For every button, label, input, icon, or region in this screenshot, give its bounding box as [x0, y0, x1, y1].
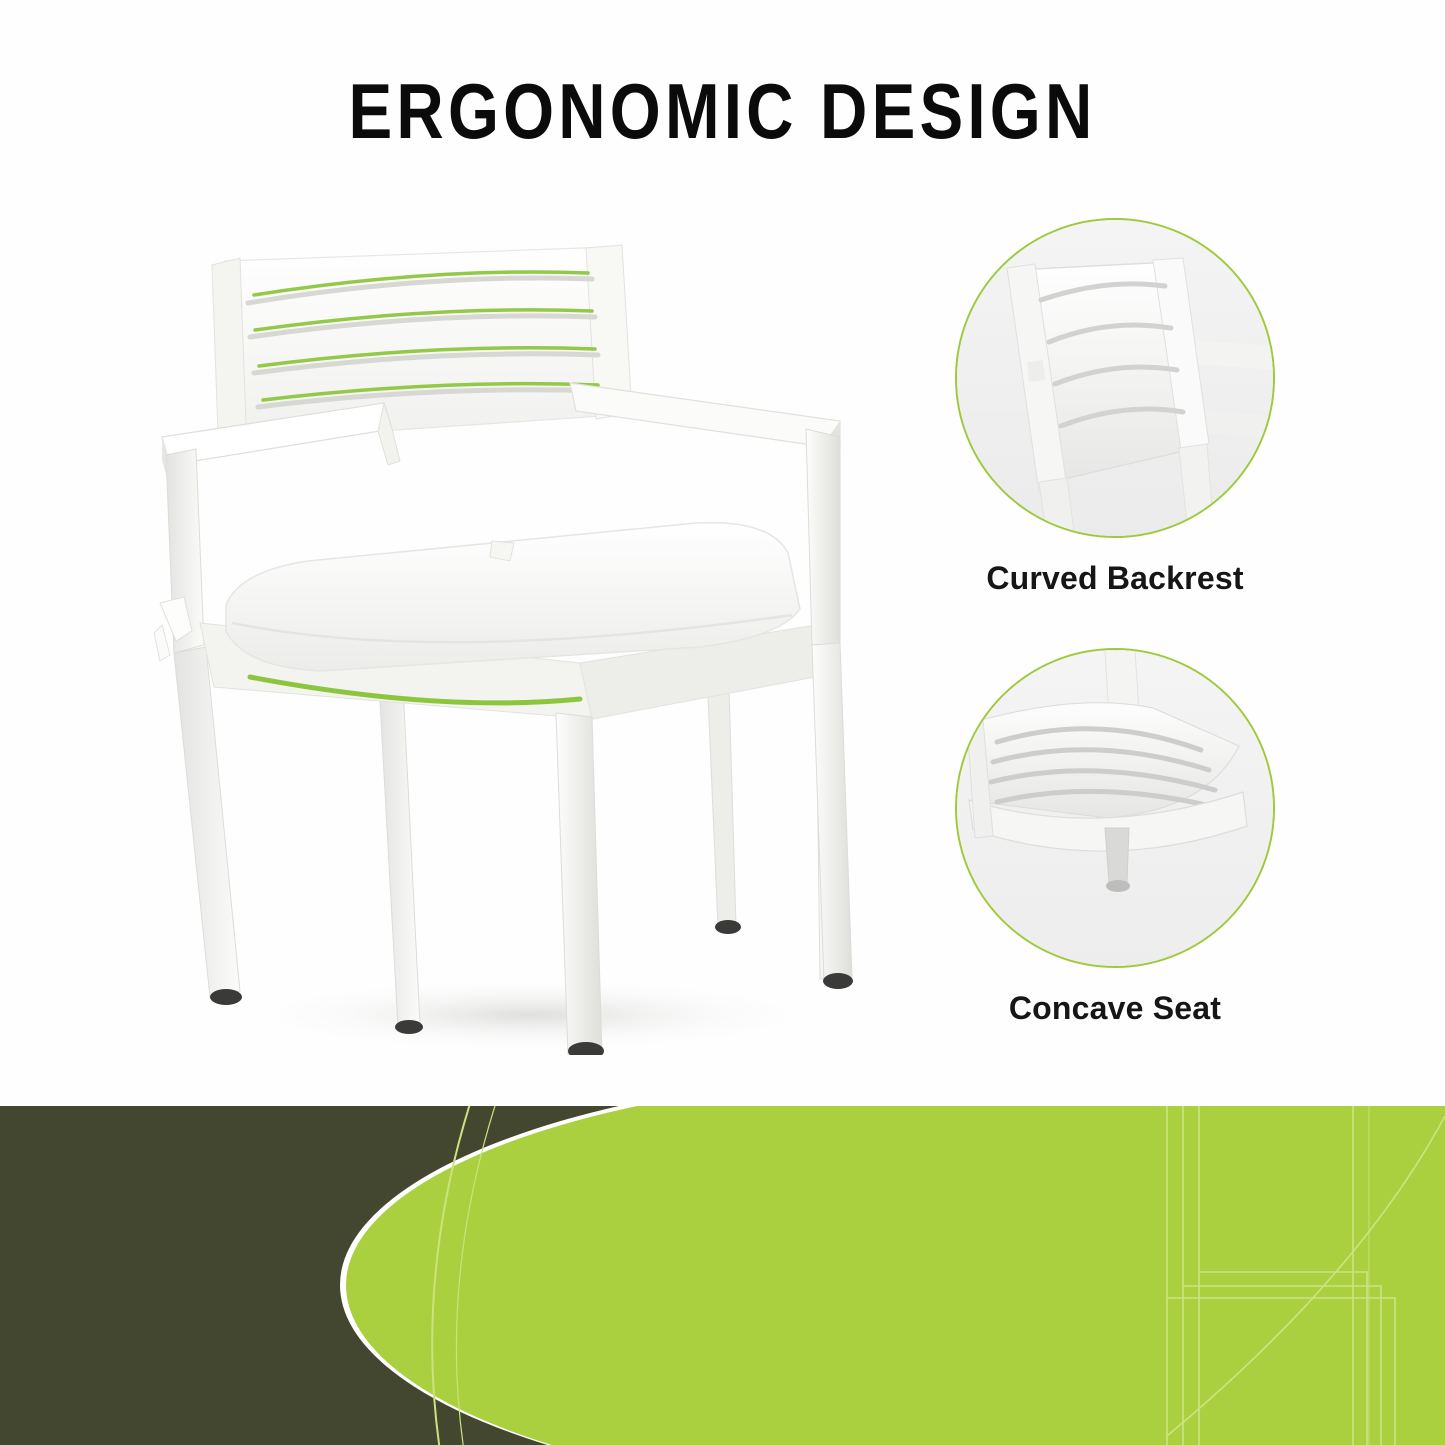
callout-curved-backrest: Curved Backrest	[935, 218, 1295, 597]
callout-label-concave-seat: Concave Seat	[935, 990, 1295, 1027]
banner-green-shape	[340, 1106, 1445, 1445]
page-title: ERGONOMIC DESIGN	[116, 66, 1330, 157]
concave-seat-circle-image	[955, 648, 1275, 968]
ergonomic-design-section: ERGONOMIC DESIGN	[0, 0, 1445, 1106]
feature-banner: NO ASSEMBLY NEEDED STACKABL	[0, 1106, 1445, 1445]
callout-concave-seat: Concave Seat	[935, 648, 1295, 1027]
hero-product-image	[140, 225, 880, 1055]
curved-backrest-circle-image	[955, 218, 1275, 538]
callout-label-curved-backrest: Curved Backrest	[935, 560, 1295, 597]
